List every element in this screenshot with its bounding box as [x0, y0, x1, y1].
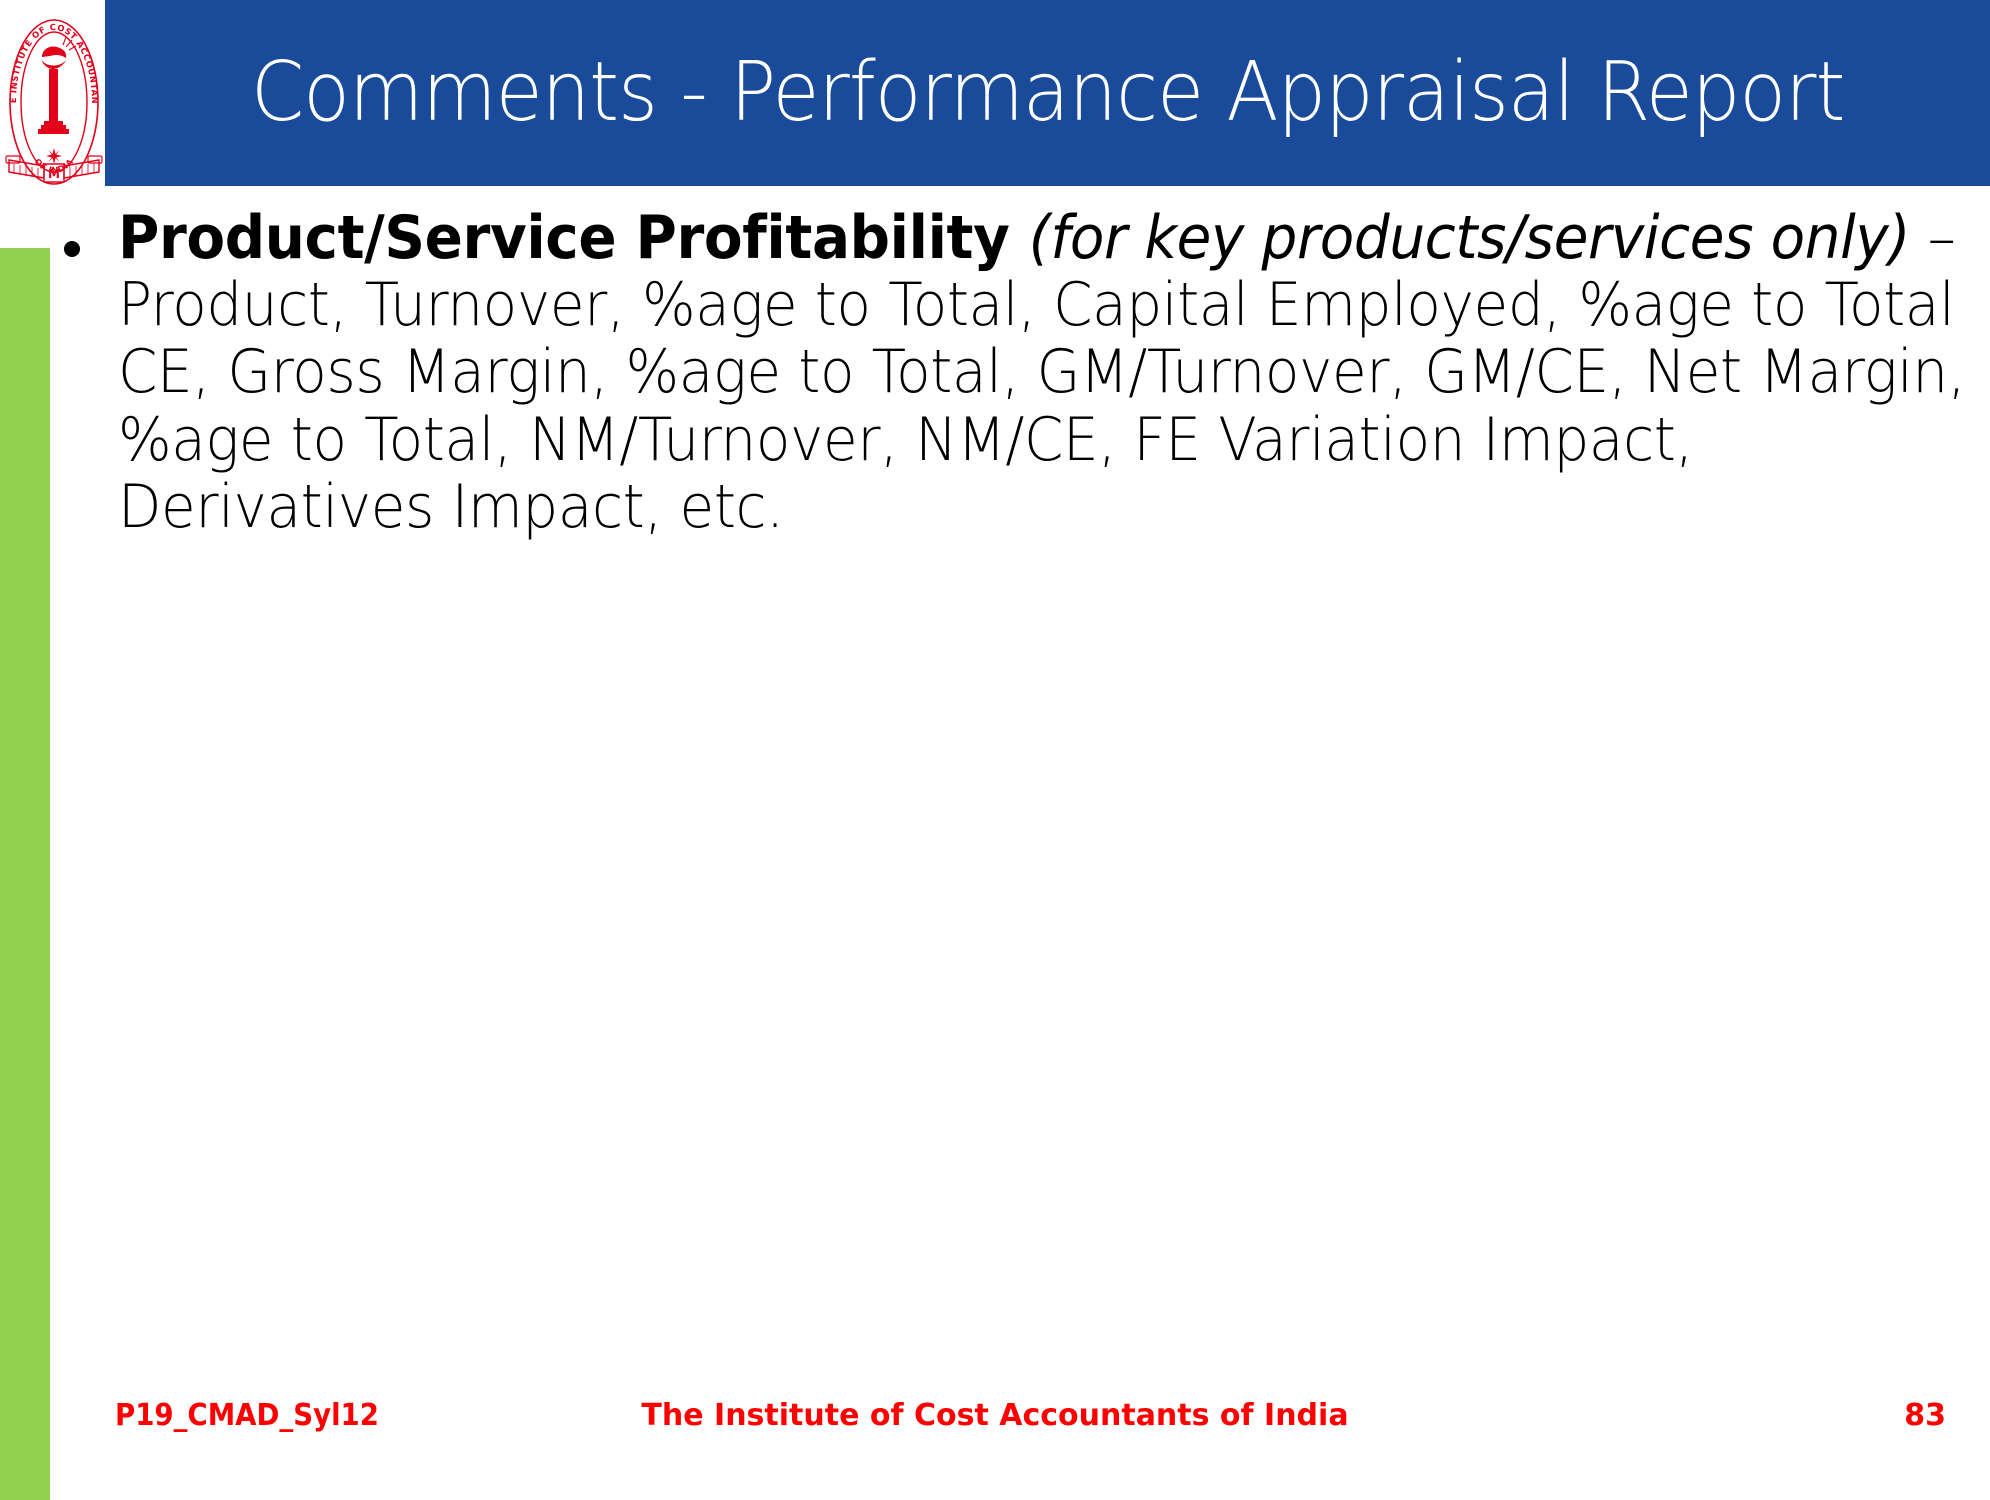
bullet-segment-bold: Product/Service Profitability: [118, 203, 1029, 273]
bullet-point-icon: [64, 241, 80, 257]
bullet-segment-italic: (for key products/services only): [1029, 203, 1910, 273]
slide-footer: P19_CMAD_Syl12 The Institute of Cost Acc…: [0, 1398, 1990, 1448]
slide-canvas: THE INSTITUTE OF COST ACCOUNTANTS OF IND…: [0, 0, 1990, 1500]
footer-page-number: 83: [1904, 1398, 1946, 1433]
slide-body: Product/Service Profitability (for key p…: [50, 205, 1990, 1365]
bullet-item-text: Product/Service Profitability (for key p…: [118, 205, 1989, 541]
footer-organisation-name: The Institute of Cost Accountants of Ind…: [0, 1398, 1990, 1433]
institute-logo: THE INSTITUTE OF COST ACCOUNTANTS OF IND…: [4, 2, 104, 187]
bullet-list-item: Product/Service Profitability (for key p…: [50, 205, 1990, 541]
page-title: Comments - Performance Appraisal Report: [251, 54, 1845, 133]
title-banner: Comments - Performance Appraisal Report: [105, 0, 1990, 186]
svg-text:M: M: [48, 167, 60, 181]
left-green-accent-bar: [0, 248, 50, 1500]
